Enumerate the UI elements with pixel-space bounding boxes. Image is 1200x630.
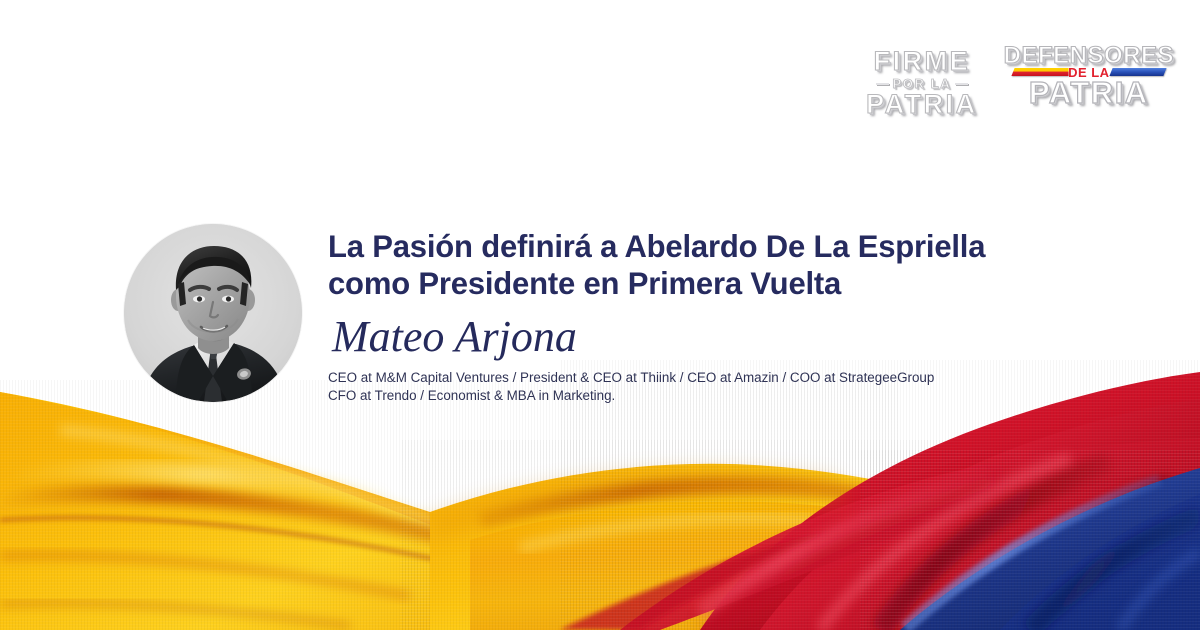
logo-group: FIRME POR LA PATRIA DEFENSORES DE LA PAT… xyxy=(866,44,1174,118)
speaker-credentials: CEO at M&M Capital Ventures / President … xyxy=(328,369,1128,405)
flag-yellow-band xyxy=(0,380,1200,630)
portrait-illustration xyxy=(124,224,302,402)
flag-blue-band xyxy=(860,450,1200,630)
logo-defensores-flag-band: DE LA xyxy=(1013,65,1165,79)
logo-firme-por-la-patria[interactable]: FIRME POR LA PATRIA xyxy=(866,44,978,118)
content-block: La Pasión definirá a Abelardo De La Espr… xyxy=(328,228,1128,405)
poster-canvas: FIRME POR LA PATRIA DEFENSORES DE LA PAT… xyxy=(0,0,1200,630)
logo-firme-dash-left xyxy=(876,83,889,85)
speaker-name: Mateo Arjona xyxy=(332,315,1128,359)
logo-defensores-line2: PATRIA xyxy=(1029,77,1149,108)
flag-blend-overlay xyxy=(430,470,1000,630)
speaker-portrait-avatar xyxy=(124,224,302,402)
logo-firme-line1: FIRME xyxy=(874,48,971,75)
flag-yellow-lobe xyxy=(400,440,1200,630)
logo-firme-dash-right xyxy=(955,83,968,85)
logo-firme-line3: PATRIA xyxy=(866,91,978,118)
page-title: La Pasión definirá a Abelardo De La Espr… xyxy=(328,228,1116,301)
flag-stripe-blue-icon xyxy=(1109,68,1166,76)
flag-stripe-yellow-red-icon xyxy=(1011,68,1072,76)
logo-defensores-band-text: DE LA xyxy=(1068,66,1110,79)
logo-defensores-de-la-patria[interactable]: DEFENSORES DE LA PATRIA xyxy=(1004,44,1174,108)
